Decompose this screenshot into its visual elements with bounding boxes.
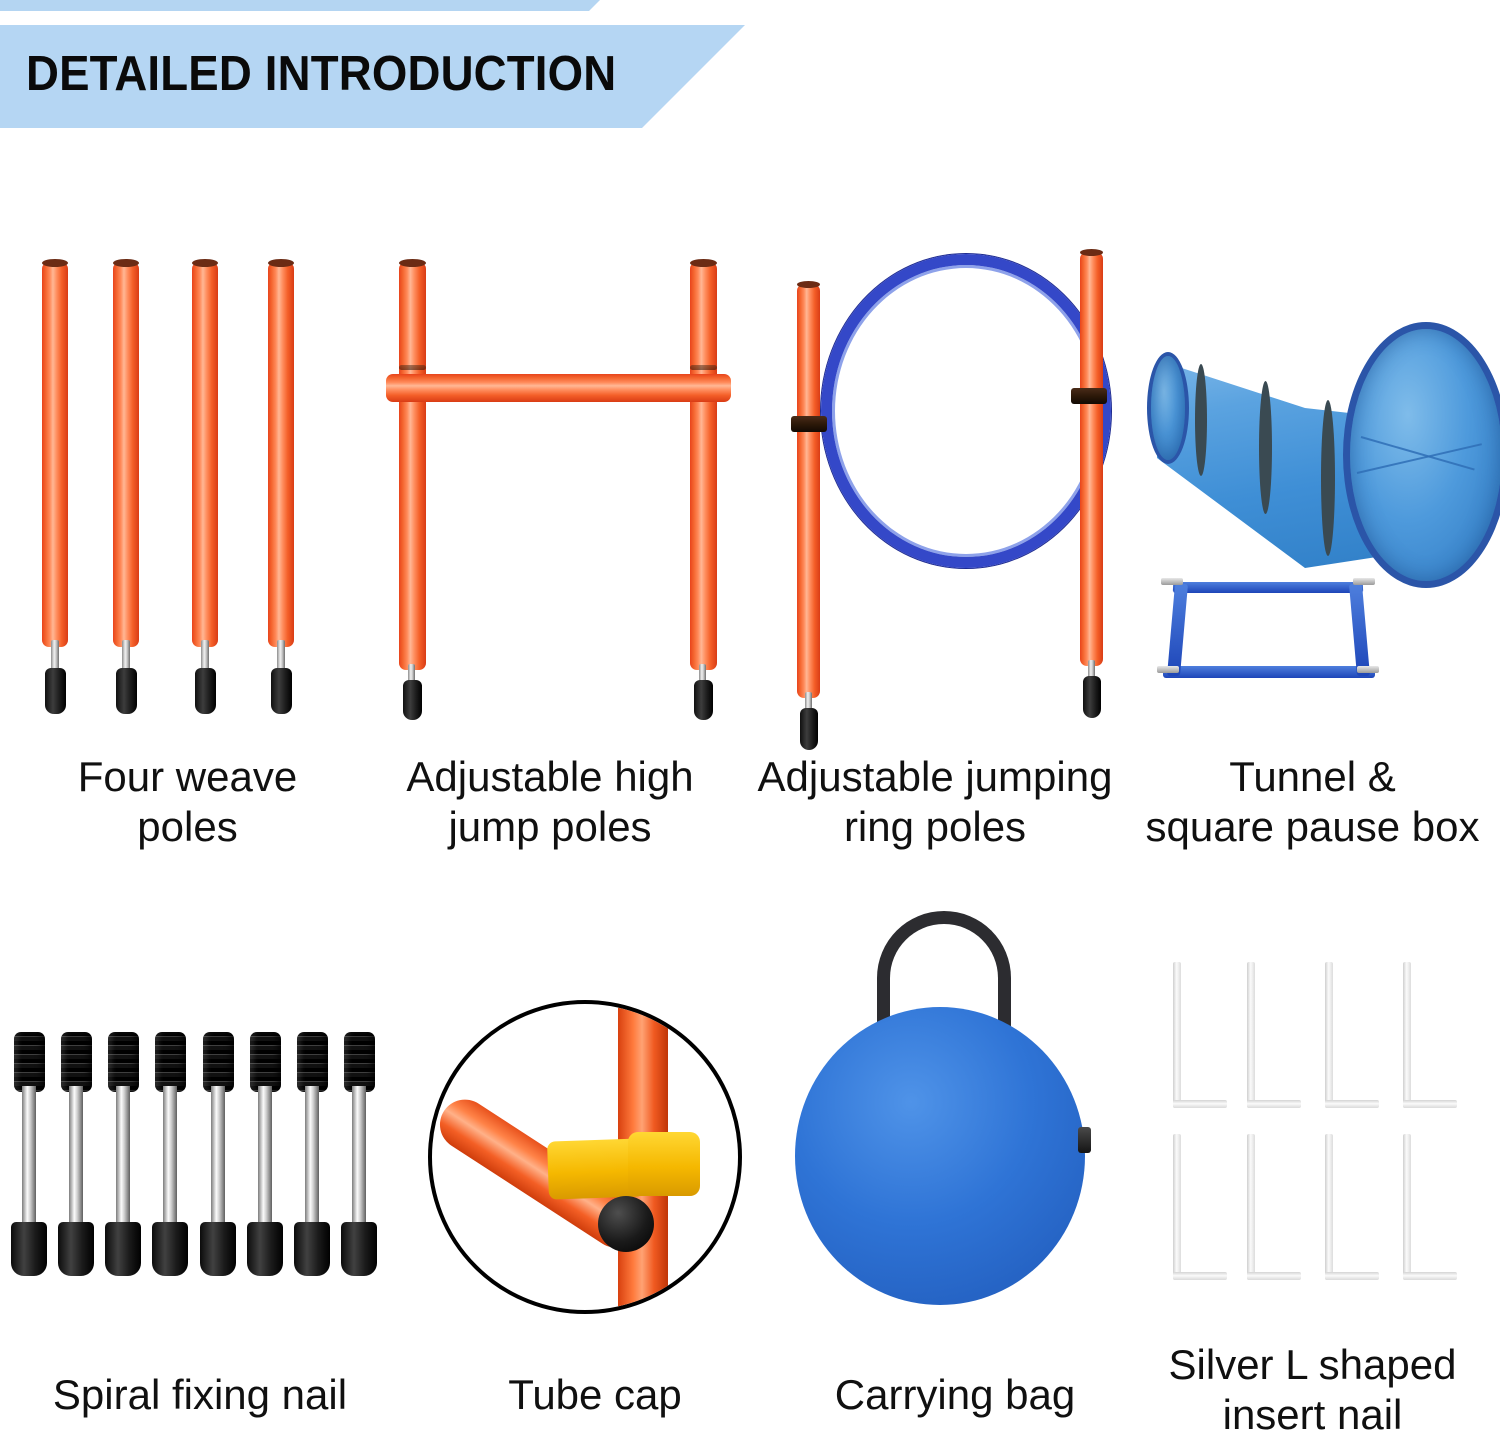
caption-line-2: ring poles <box>844 803 1026 850</box>
caption-line-1: Tunnel & <box>1229 753 1396 800</box>
banner-accent-strip <box>0 0 600 11</box>
ring-clip-right <box>1071 388 1107 404</box>
zipper-pull <box>1078 1127 1091 1153</box>
spiral-nail-icon <box>0 1000 400 1430</box>
page-title: DETAILED INTRODUCTION <box>26 46 616 102</box>
caption-line-1: Silver L shaped <box>1169 1341 1457 1388</box>
item-tube-cap: Tube cap <box>400 1000 790 1430</box>
tube-end-cap <box>598 1196 654 1252</box>
caption-line-2: jump poles <box>448 803 651 850</box>
item-high-jump-poles: Adjustable high jump poles <box>360 240 740 860</box>
item-jumping-ring-poles: Adjustable jumping ring poles <box>745 240 1125 860</box>
caption-weave-poles: Four weave poles <box>0 752 375 852</box>
caption-line-1: Tube cap <box>508 1371 682 1418</box>
item-l-shaped-insert-nail: Silver L shaped insert nail <box>1125 940 1500 1435</box>
tunnel-far-end <box>1147 352 1189 464</box>
square-pause-box-icon <box>1155 570 1385 700</box>
caption-l-shaped-insert-nail: Silver L shaped insert nail <box>1125 1340 1500 1440</box>
caption-line-2: square pause box <box>1146 803 1480 850</box>
caption-spiral-fixing-nail: Spiral fixing nail <box>0 1370 400 1420</box>
carrying-bag-icon <box>775 905 1135 1430</box>
tube-cap-icon <box>428 1000 742 1314</box>
caption-line-1: Adjustable high <box>406 753 693 800</box>
item-tunnel-pause-box: Tunnel & square pause box <box>1125 240 1500 860</box>
caption-line-1: Spiral fixing nail <box>53 1371 347 1418</box>
jump-ring <box>821 254 1111 568</box>
caption-line-1: Carrying bag <box>835 1371 1075 1418</box>
crossbar <box>386 374 731 402</box>
caption-tunnel-pause-box: Tunnel & square pause box <box>1125 752 1500 852</box>
item-weave-poles: Four weave poles <box>0 240 375 860</box>
caption-high-jump-poles: Adjustable high jump poles <box>360 752 740 852</box>
ring-clip-left <box>791 416 827 432</box>
item-carrying-bag: Carrying bag <box>775 905 1135 1430</box>
item-spiral-fixing-nail: Spiral fixing nail <box>0 1000 400 1430</box>
page-header: DETAILED INTRODUCTION <box>0 0 1500 150</box>
caption-line-2: insert nail <box>1223 1391 1403 1438</box>
bag-body <box>795 1007 1085 1305</box>
caption-carrying-bag: Carrying bag <box>775 1370 1135 1420</box>
caption-jumping-ring-poles: Adjustable jumping ring poles <box>745 752 1125 852</box>
caption-line-1: Adjustable jumping <box>758 753 1113 800</box>
caption-line-2: poles <box>137 803 237 850</box>
caption-tube-cap: Tube cap <box>400 1370 790 1420</box>
caption-line-1: Four weave <box>78 753 297 800</box>
